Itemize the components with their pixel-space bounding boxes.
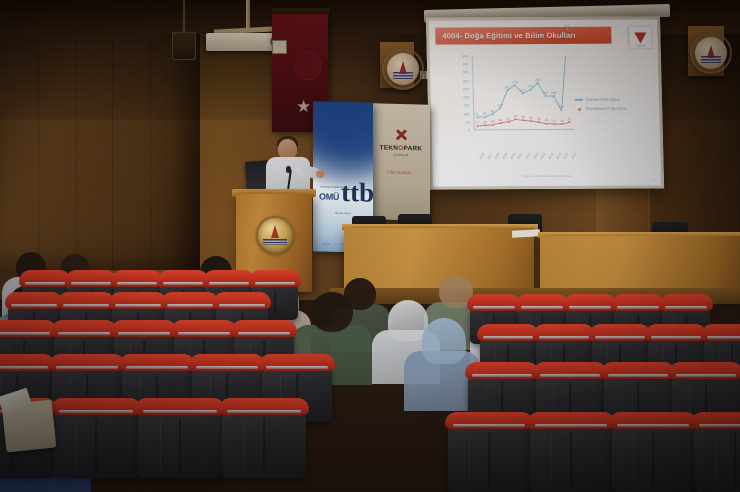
data-point [553, 123, 555, 125]
y-tick-label: 150 [463, 104, 469, 108]
projection-screen: 4004- Doğa Eğitimi ve Bilim Okulları TÜB… [426, 16, 664, 189]
data-label: 206 [551, 91, 557, 95]
data-point [522, 119, 524, 121]
auditorium-photo: ★ 4004- Doğa Eğitimi ve Bilim Okulları T… [0, 0, 740, 492]
data-label: 33 [491, 120, 495, 124]
data-point [484, 124, 486, 126]
university-seal-icon [256, 216, 294, 254]
data-point [476, 116, 478, 118]
person-head [311, 292, 353, 332]
y-tick-label: 100 [464, 112, 470, 116]
legend-label: Önerilen Proje Sayısı [586, 98, 620, 102]
projector-wire [183, 0, 185, 34]
slide-page-number: 12 [652, 177, 655, 181]
university-emblem-right [690, 32, 732, 74]
data-point [491, 113, 493, 115]
ceiling-speaker [172, 32, 196, 60]
y-tick-label: 400 [462, 63, 468, 67]
legend-label: Desteklenen Proje Sayısı [586, 107, 626, 111]
teknopark-name-prefix: TEKN [380, 144, 399, 151]
x-tick-label: 2010 [509, 152, 516, 160]
data-point [507, 121, 509, 123]
data-label: 44 [498, 118, 502, 122]
x-tick-label: 2016 [555, 152, 562, 160]
x-tick-label: 2014 [540, 152, 547, 160]
y-axis-ticks: 050100150200250300350400450 [446, 56, 472, 130]
data-label: 274 [512, 80, 518, 84]
projector-mount-pipe [246, 0, 250, 30]
data-label: 66 [514, 114, 518, 118]
data-point [492, 124, 494, 126]
star-icon: ★ [296, 98, 311, 115]
data-point [499, 122, 501, 124]
y-tick-label: 350 [463, 71, 469, 75]
data-label: 39 [545, 118, 549, 122]
auditorium-seat[interactable] [448, 418, 530, 492]
data-point [515, 118, 517, 120]
tubitak-logo-icon: TÜBİTAK [628, 25, 653, 49]
data-point [476, 125, 478, 127]
data-label: 285 [535, 78, 541, 82]
auditorium-seat[interactable] [694, 418, 740, 492]
data-label: 222 [520, 88, 526, 92]
legend-dot-icon [578, 107, 581, 110]
data-label: 241 [504, 85, 510, 89]
data-point [537, 82, 539, 84]
crescent-icon [286, 52, 314, 80]
data-label: 51 [506, 117, 510, 121]
data-point [561, 109, 563, 111]
auditorium-seat[interactable] [530, 418, 612, 492]
teknopark-banner: TEKNOPARK SAMSUN Fikir Geliştir... [372, 103, 430, 221]
data-label: 134 [497, 103, 503, 107]
data-label: 27 [475, 121, 479, 125]
data-label: 82 [483, 112, 487, 116]
data-point [506, 90, 508, 92]
y-tick-label: 250 [463, 87, 469, 91]
data-label: 119 [559, 105, 564, 109]
data-label: 59 [521, 115, 525, 119]
university-emblem-left [382, 48, 424, 90]
data-label: 34 [560, 119, 564, 123]
data-point [530, 120, 532, 122]
data-label: 30 [483, 120, 487, 124]
data-point [561, 123, 563, 125]
data-point [484, 116, 486, 118]
partner-logo: TÜBİTAK [322, 243, 331, 245]
x-tick-label: 2009 [501, 152, 508, 160]
x-tick-label: 2017 [563, 152, 570, 160]
desk-papers [512, 229, 540, 237]
data-label: 46 [537, 117, 541, 121]
legend-item: Desteklenen Proje Sayısı [575, 106, 649, 110]
data-label: 37 [552, 119, 556, 123]
slide-title: 4004- Doğa Eğitimi ve Bilim Okulları [435, 31, 575, 41]
auditorium-seat[interactable] [138, 404, 222, 478]
auditorium-seat[interactable] [612, 418, 694, 492]
person-head [422, 318, 466, 364]
y-tick-label: 200 [463, 96, 469, 100]
teknopark-mark-icon [395, 128, 408, 141]
data-point [499, 107, 501, 109]
x-tick-label: 2008 [493, 152, 500, 160]
data-label: 207 [543, 91, 549, 95]
data-label: 613 [564, 24, 570, 28]
data-point [553, 95, 555, 97]
teknopark-name-suffix: PARK [404, 145, 423, 152]
y-tick-label: 0 [468, 128, 470, 132]
x-tick-label: 2011 [516, 152, 523, 160]
data-point [514, 84, 516, 86]
omu-ttb-full-name: Teknoloji Transfer Bürosu [320, 186, 348, 190]
x-tick-label: 2006 [478, 152, 485, 160]
presentation-slide: 4004- Doğa Eğitimi ve Bilim Okulları TÜB… [429, 19, 661, 186]
data-point [522, 93, 524, 95]
presenter-hand [316, 170, 325, 178]
x-tick-label: 2013 [532, 152, 539, 160]
data-label: 81 [475, 112, 479, 116]
data-point [529, 89, 531, 91]
y-tick-label: 50 [466, 120, 470, 124]
chart-plot-area: 8182981342412742222462852072061196132730… [472, 56, 574, 131]
y-tick-label: 450 [462, 54, 468, 58]
data-label: 47 [568, 117, 572, 121]
data-point [566, 28, 568, 30]
x-tick-label: 2012 [524, 152, 531, 160]
data-label: 246 [527, 84, 533, 88]
tubitak-logo-caption: TÜBİTAK [630, 44, 652, 47]
legend-item: Önerilen Proje Sayısı [575, 97, 649, 101]
data-point [569, 121, 571, 123]
x-tick-label: 2007 [486, 152, 493, 160]
slide-title-bar: 4004- Doğa Eğitimi ve Bilim Okulları [435, 27, 611, 45]
data-label: 55 [529, 116, 533, 120]
data-point [546, 123, 548, 125]
x-tick-label: 2018 [570, 152, 577, 160]
data-point [538, 121, 540, 123]
teknopark-subtitle: SAMSUN [372, 152, 430, 158]
data-label: 98 [491, 109, 495, 113]
omu-abbr: OMÜ [319, 192, 339, 201]
chart-legend: Önerilen Proje SayısıDesteklenen Proje S… [575, 97, 649, 115]
omu-ttb-url: ttb.omu.edu.tr [313, 211, 373, 215]
line-chart: 050100150200250300350400450 818298134241… [446, 51, 653, 160]
legend-line-icon [575, 99, 583, 101]
x-axis-ticks: 2006200720082009201020112012201320142015… [474, 130, 575, 157]
y-tick-label: 300 [463, 79, 469, 83]
teknopark-tagline: Fikir Geliştir... [372, 169, 430, 176]
auditorium-seat[interactable] [54, 404, 138, 478]
auditorium-seat[interactable] [222, 404, 306, 478]
x-tick-label: 2015 [547, 152, 554, 160]
wall-plate [272, 40, 287, 54]
slide-footnote: TÜBİTAK - Bilim İnsanı Destek Programlar… [433, 174, 661, 178]
data-point [545, 95, 547, 97]
